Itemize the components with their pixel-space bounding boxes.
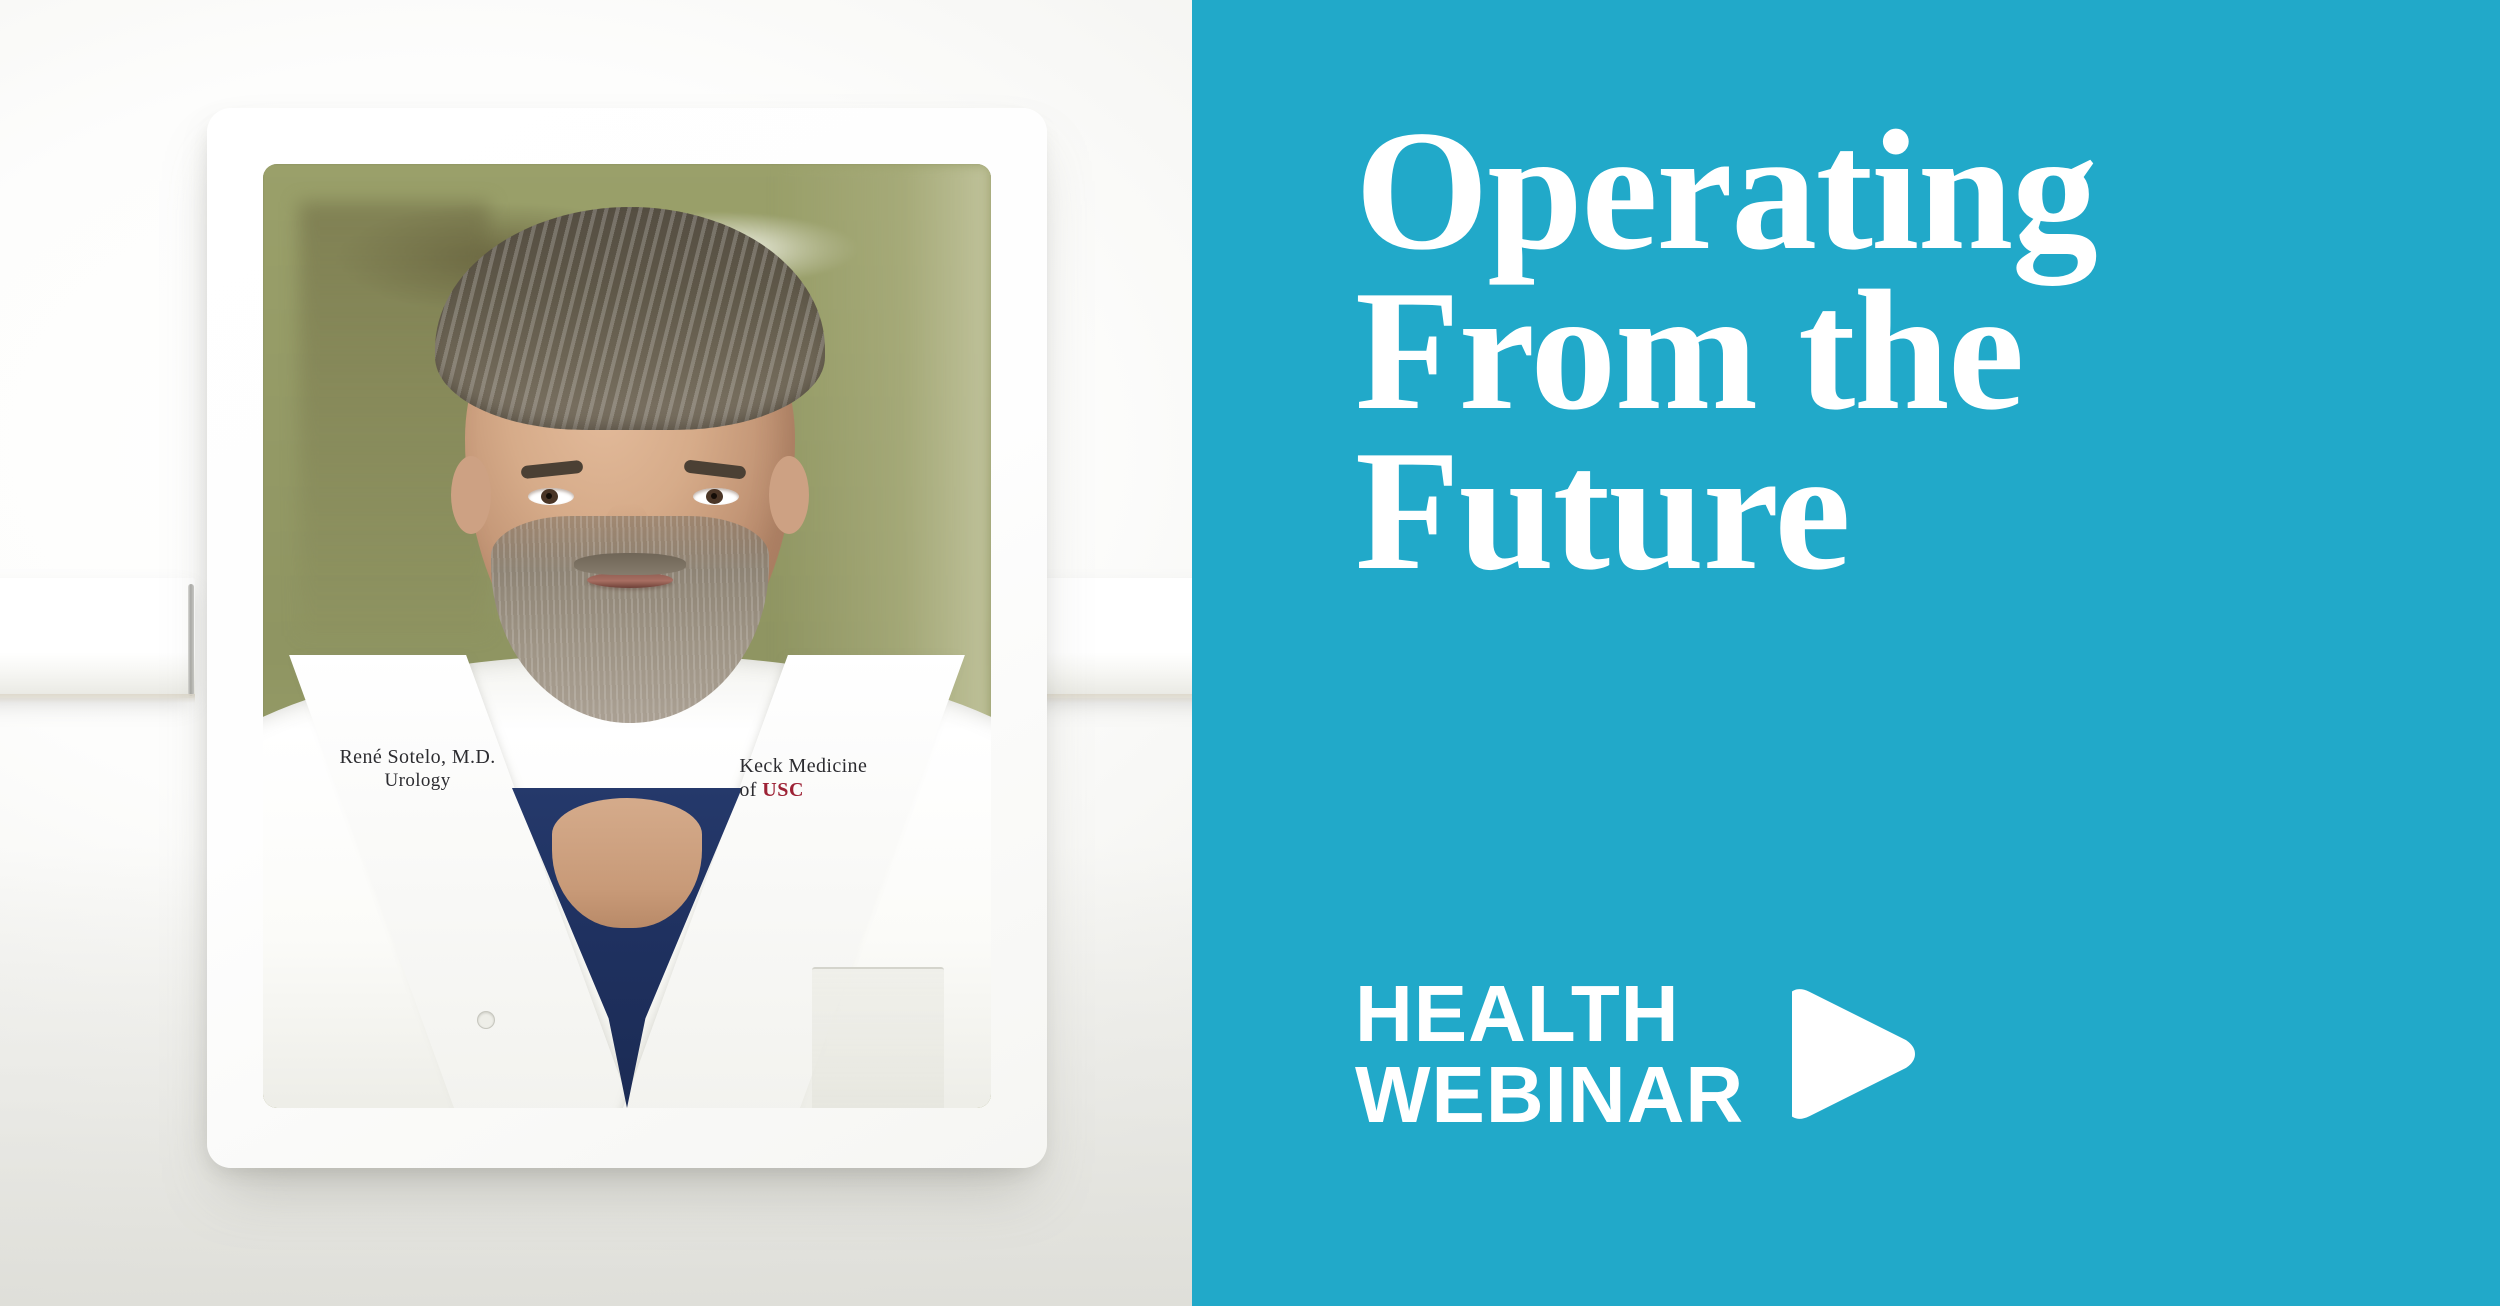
- lab-coat-pocket: [812, 967, 944, 1108]
- ear-left: [451, 456, 491, 534]
- play-triangle-icon[interactable]: [1792, 985, 1916, 1123]
- portrait-photo: René Sotelo, M.D. Urology Keck Medicine …: [263, 164, 991, 1108]
- institution-line-1: Keck Medicine: [739, 755, 867, 777]
- shelf-left-edge: [188, 584, 194, 696]
- webinar-cta-label: HEALTH WEBINAR: [1355, 973, 1744, 1136]
- webinar-title-line-2: From the: [1355, 272, 2435, 432]
- eyebrow-left: [521, 459, 584, 478]
- health-webinar-promo-banner: René Sotelo, M.D. Urology Keck Medicine …: [0, 0, 2500, 1306]
- webinar-cta-label-line-2: WEBINAR: [1355, 1054, 1744, 1136]
- photo-scene: René Sotelo, M.D. Urology Keck Medicine …: [0, 0, 1192, 1306]
- shelf-left-segment: [0, 578, 195, 698]
- lab-coat-button: [478, 1012, 494, 1028]
- teal-info-panel: Operating From the Future HEALTH WEBINAR: [1192, 0, 2500, 1306]
- lab-coat-institution-embroidery: Keck Medicine of USC: [739, 754, 867, 803]
- eyebrow-right: [683, 459, 746, 479]
- ear-right: [769, 456, 809, 534]
- mustache: [574, 553, 686, 575]
- webinar-title-line-1: Operating: [1355, 112, 2435, 272]
- usc-wordmark: USC: [762, 779, 804, 801]
- institution-line-2-prefix: of: [739, 779, 762, 801]
- portrait-picture-frame: René Sotelo, M.D. Urology Keck Medicine …: [207, 108, 1047, 1168]
- lab-coat-name: René Sotelo, M.D.: [339, 746, 495, 768]
- webinar-cta-label-line-1: HEALTH: [1355, 973, 1744, 1055]
- eye-left: [528, 488, 574, 505]
- subject-head: [465, 258, 795, 688]
- eye-right: [693, 488, 739, 505]
- lab-coat-department: Urology: [339, 769, 495, 792]
- iris-right: [706, 489, 723, 504]
- corridor-door-blur: [299, 202, 488, 636]
- shelf-left-shadow: [0, 694, 195, 703]
- webinar-title: Operating From the Future: [1355, 112, 2435, 592]
- webinar-title-line-3: Future: [1355, 432, 2435, 592]
- iris-left: [541, 489, 558, 504]
- webinar-cta[interactable]: HEALTH WEBINAR: [1355, 973, 1916, 1136]
- portrait-illustration: René Sotelo, M.D. Urology Keck Medicine …: [263, 164, 991, 1108]
- lab-coat-name-embroidery: René Sotelo, M.D. Urology: [339, 745, 495, 793]
